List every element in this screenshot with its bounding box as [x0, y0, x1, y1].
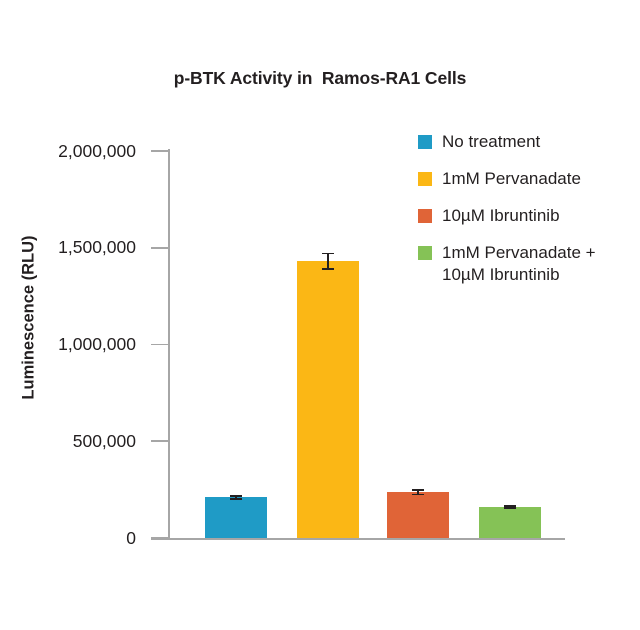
legend-swatch-icon [418, 209, 432, 223]
legend-label: 1mM Pervanadate + 10µM Ibruntinib [442, 242, 596, 286]
y-tick-mark [151, 150, 168, 152]
y-tick-label-wrap: 1,000,000 [0, 334, 142, 356]
y-tick-mark [151, 537, 168, 539]
chart-legend: No treatment1mM Pervanadate10µM Ibruntin… [418, 131, 640, 301]
x-axis-line [151, 538, 565, 540]
bar-1 [205, 497, 267, 538]
legend-item-3[interactable]: 10µM Ibruntinib [418, 205, 640, 227]
error-bar-cap-top [412, 489, 424, 491]
error-bar-cap-bottom [322, 268, 334, 270]
chart-title: p-BTK Activity in Ramos-RA1 Cells [0, 68, 640, 89]
y-tick-label: 1,500,000 [58, 237, 142, 258]
legend-swatch-icon [418, 172, 432, 186]
legend-label: No treatment [442, 131, 540, 153]
y-tick-label-wrap: 2,000,000 [0, 140, 142, 162]
y-tick-label-wrap: 500,000 [0, 430, 142, 452]
legend-item-2[interactable]: 1mM Pervanadate [418, 168, 640, 190]
y-tick-label: 0 [126, 528, 142, 549]
bar-2 [297, 261, 359, 538]
legend-swatch-icon [418, 135, 432, 149]
y-tick-label: 500,000 [73, 431, 142, 452]
error-bar-cap-bottom [412, 494, 424, 496]
error-bar-cap-top [322, 253, 334, 255]
y-tick-mark [151, 344, 168, 346]
error-bar-cap-bottom [230, 498, 242, 500]
y-tick-label-wrap: 0 [0, 527, 142, 549]
y-tick-mark [151, 440, 168, 442]
error-bar-cap-bottom [504, 507, 516, 509]
bar-4 [479, 507, 541, 538]
y-tick-label: 2,000,000 [58, 141, 142, 162]
legend-item-4[interactable]: 1mM Pervanadate + 10µM Ibruntinib [418, 242, 640, 286]
chart-figure: p-BTK Activity in Ramos-RA1 Cells Lumine… [0, 0, 640, 630]
bar-3 [387, 492, 449, 538]
legend-label: 10µM Ibruntinib [442, 205, 560, 227]
y-tick-label: 1,000,000 [58, 334, 142, 355]
y-tick-label-wrap: 1,500,000 [0, 237, 142, 259]
legend-item-1[interactable]: No treatment [418, 131, 640, 153]
y-tick-mark [151, 247, 168, 249]
legend-swatch-icon [418, 246, 432, 260]
legend-label: 1mM Pervanadate [442, 168, 581, 190]
error-bar-cap-top [230, 495, 242, 497]
